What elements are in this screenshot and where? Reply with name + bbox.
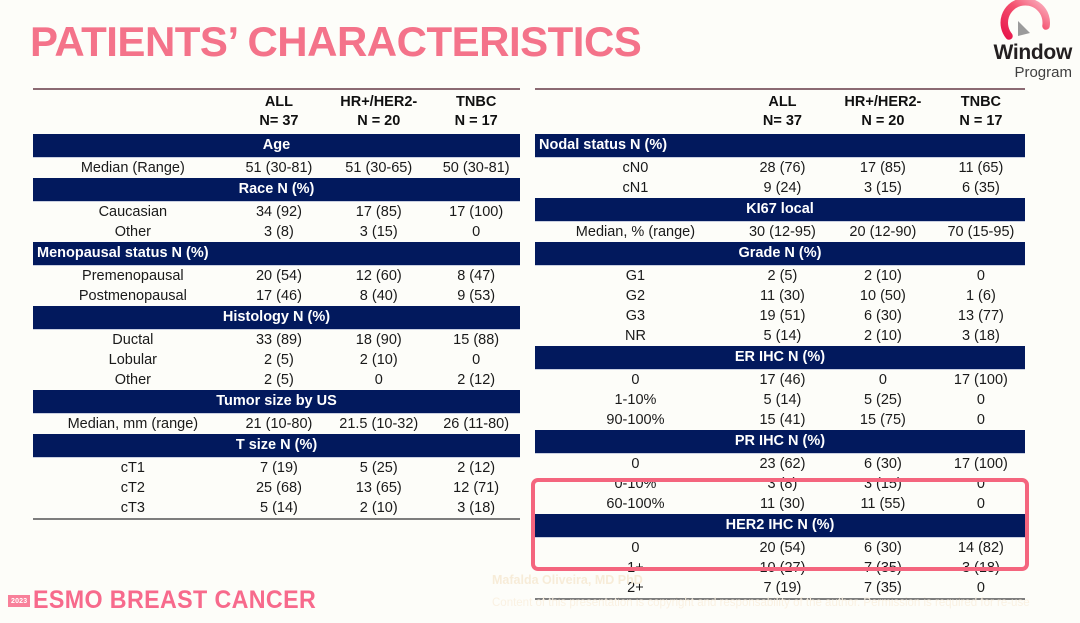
table-row: cT35 (14)2 (10)3 (18) bbox=[33, 498, 520, 519]
cell-tnbc: 17 (100) bbox=[432, 202, 520, 223]
header-hrher2: HR+/HER2- bbox=[829, 92, 937, 111]
header-blank bbox=[535, 92, 736, 111]
cell-tnbc: 0 bbox=[937, 410, 1025, 430]
esmo-logo: 2023 ESMO BREAST CANCER bbox=[8, 586, 338, 615]
section-band-label: ER IHC N (%) bbox=[535, 346, 1025, 370]
cell-tnbc: 9 (53) bbox=[432, 286, 520, 306]
cell-all: 2 (5) bbox=[233, 370, 326, 390]
header-all: ALL bbox=[233, 92, 326, 111]
table-row: NR5 (14)2 (10)3 (18) bbox=[535, 326, 1025, 346]
section-band: Histology N (%) bbox=[33, 306, 520, 330]
row-label: Caucasian bbox=[33, 202, 233, 223]
table-row: Median (Range)51 (30-81)51 (30-65)50 (30… bbox=[33, 158, 520, 179]
section-band: T size N (%) bbox=[33, 434, 520, 458]
section-band-label: Race N (%) bbox=[33, 178, 520, 202]
table-row: 017 (46)017 (100) bbox=[535, 370, 1025, 391]
cell-all: 5 (14) bbox=[736, 390, 829, 410]
cell-hrher2: 17 (85) bbox=[325, 202, 432, 223]
right-table: ALL HR+/HER2- TNBC N= 37 N = 20 N = 17 N… bbox=[535, 88, 1025, 602]
section-band-label: KI67 local bbox=[535, 198, 1025, 222]
cell-hrher2: 17 (85) bbox=[829, 158, 937, 179]
cell-hrher2: 18 (90) bbox=[325, 330, 432, 351]
cell-hrher2: 10 (50) bbox=[829, 286, 937, 306]
cell-all: 51 (30-81) bbox=[233, 158, 326, 179]
header-tnbc-n: N = 17 bbox=[432, 111, 520, 134]
row-label: Lobular bbox=[33, 350, 233, 370]
table-row: 60-100%11 (30)11 (55)0 bbox=[535, 494, 1025, 514]
cell-all: 10 (27) bbox=[736, 558, 829, 578]
cell-hrher2: 11 (55) bbox=[829, 494, 937, 514]
header-tnbc: TNBC bbox=[937, 92, 1025, 111]
row-label: G1 bbox=[535, 266, 736, 287]
cell-all: 33 (89) bbox=[233, 330, 326, 351]
row-label: 1-10% bbox=[535, 390, 736, 410]
cell-hrher2: 6 (30) bbox=[829, 306, 937, 326]
section-band-label: Menopausal status N (%) bbox=[33, 242, 520, 266]
cell-all: 3 (8) bbox=[736, 474, 829, 494]
table-row: G12 (5)2 (10)0 bbox=[535, 266, 1025, 287]
cell-all: 7 (19) bbox=[736, 578, 829, 599]
section-band: KI67 local bbox=[535, 198, 1025, 222]
cell-hrher2: 8 (40) bbox=[325, 286, 432, 306]
cell-tnbc: 3 (18) bbox=[432, 498, 520, 519]
row-label: Median (Range) bbox=[33, 158, 233, 179]
cell-hrher2: 3 (15) bbox=[829, 178, 937, 198]
row-label: Ductal bbox=[33, 330, 233, 351]
table-row: Median, % (range)30 (12-95)20 (12-90)70 … bbox=[535, 222, 1025, 243]
cell-all: 34 (92) bbox=[233, 202, 326, 223]
table-header-n-row: N= 37 N = 20 N = 17 bbox=[33, 111, 520, 134]
cell-all: 21 (10-80) bbox=[233, 414, 326, 435]
logo-subtitle: Program bbox=[960, 64, 1072, 81]
section-band: Race N (%) bbox=[33, 178, 520, 202]
table-header-row: ALL HR+/HER2- TNBC bbox=[33, 92, 520, 111]
cell-tnbc: 50 (30-81) bbox=[432, 158, 520, 179]
row-label: Premenopausal bbox=[33, 266, 233, 287]
row-label: 90-100% bbox=[535, 410, 736, 430]
cell-hrher2: 2 (10) bbox=[325, 498, 432, 519]
cell-all: 20 (54) bbox=[233, 266, 326, 287]
table-row: G319 (51)6 (30)13 (77) bbox=[535, 306, 1025, 326]
cell-tnbc: 3 (18) bbox=[937, 558, 1025, 578]
cell-hrher2: 2 (10) bbox=[325, 350, 432, 370]
header-tnbc: TNBC bbox=[432, 92, 520, 111]
cell-hrher2: 6 (30) bbox=[829, 454, 937, 475]
cell-tnbc: 2 (12) bbox=[432, 458, 520, 479]
cell-all: 15 (41) bbox=[736, 410, 829, 430]
table-row: Other2 (5)02 (12) bbox=[33, 370, 520, 390]
cell-tnbc: 26 (11-80) bbox=[432, 414, 520, 435]
header-blank bbox=[33, 92, 233, 111]
table-row: Caucasian34 (92)17 (85)17 (100) bbox=[33, 202, 520, 223]
cell-hrher2: 21.5 (10-32) bbox=[325, 414, 432, 435]
left-table: ALL HR+/HER2- TNBC N= 37 N = 20 N = 17 A… bbox=[33, 88, 520, 522]
row-label: 0-10% bbox=[535, 474, 736, 494]
cell-tnbc: 0 bbox=[937, 578, 1025, 599]
cell-all: 28 (76) bbox=[736, 158, 829, 179]
row-label: 0 bbox=[535, 454, 736, 475]
row-label: Median, % (range) bbox=[535, 222, 736, 243]
header-hrher2: HR+/HER2- bbox=[325, 92, 432, 111]
table-row: 90-100%15 (41)15 (75)0 bbox=[535, 410, 1025, 430]
cell-tnbc: 11 (65) bbox=[937, 158, 1025, 179]
cell-hrher2: 6 (30) bbox=[829, 538, 937, 559]
cell-tnbc: 0 bbox=[432, 350, 520, 370]
header-all: ALL bbox=[736, 92, 829, 111]
cell-tnbc: 14 (82) bbox=[937, 538, 1025, 559]
footer-copyright: Content of this presentation is copyrigh… bbox=[492, 597, 1030, 609]
cell-hrher2: 0 bbox=[829, 370, 937, 391]
cell-hrher2: 7 (35) bbox=[829, 578, 937, 599]
cell-tnbc: 0 bbox=[937, 266, 1025, 287]
section-band-label: T size N (%) bbox=[33, 434, 520, 458]
table-row: 1-10%5 (14)5 (25)0 bbox=[535, 390, 1025, 410]
cell-all: 3 (8) bbox=[233, 222, 326, 242]
cell-all: 17 (46) bbox=[233, 286, 326, 306]
table-row: Ductal33 (89)18 (90)15 (88) bbox=[33, 330, 520, 351]
row-label: 0 bbox=[535, 538, 736, 559]
row-label: cT2 bbox=[33, 478, 233, 498]
section-band-label: Nodal status N (%) bbox=[535, 134, 1025, 158]
row-label: cN1 bbox=[535, 178, 736, 198]
header-hrher2-n: N = 20 bbox=[325, 111, 432, 134]
header-all-n: N= 37 bbox=[736, 111, 829, 134]
section-band-label: Age bbox=[33, 134, 520, 158]
table-row: Premenopausal20 (54)12 (60)8 (47) bbox=[33, 266, 520, 287]
row-label: 0 bbox=[535, 370, 736, 391]
section-band: HER2 IHC N (%) bbox=[535, 514, 1025, 538]
section-band-label: Grade N (%) bbox=[535, 242, 1025, 266]
cell-tnbc: 2 (12) bbox=[432, 370, 520, 390]
cell-hrher2: 3 (15) bbox=[325, 222, 432, 242]
table-header-row: ALL HR+/HER2- TNBC bbox=[535, 92, 1025, 111]
header-all-n: N= 37 bbox=[233, 111, 326, 134]
section-band-label: Tumor size by US bbox=[33, 390, 520, 414]
cell-tnbc: 3 (18) bbox=[937, 326, 1025, 346]
cell-hrher2: 15 (75) bbox=[829, 410, 937, 430]
logo-title: Window bbox=[960, 42, 1072, 64]
cell-all: 5 (14) bbox=[233, 498, 326, 519]
cell-tnbc: 70 (15-95) bbox=[937, 222, 1025, 243]
window-program-logo: Window Program bbox=[960, 0, 1072, 81]
row-label: cT3 bbox=[33, 498, 233, 519]
table-row: Postmenopausal17 (46)8 (40)9 (53) bbox=[33, 286, 520, 306]
table-row: cT225 (68)13 (65)12 (71) bbox=[33, 478, 520, 498]
section-band: Nodal status N (%) bbox=[535, 134, 1025, 158]
table-row: cT17 (19)5 (25)2 (12) bbox=[33, 458, 520, 479]
section-band-label: Histology N (%) bbox=[33, 306, 520, 330]
cell-all: 23 (62) bbox=[736, 454, 829, 475]
section-band: Age bbox=[33, 134, 520, 158]
table-row: 023 (62)6 (30)17 (100) bbox=[535, 454, 1025, 475]
row-label: G3 bbox=[535, 306, 736, 326]
header-tnbc-n: N = 17 bbox=[937, 111, 1025, 134]
esmo-logo-text: ESMO BREAST CANCER bbox=[33, 586, 316, 615]
cell-hrher2: 2 (10) bbox=[829, 326, 937, 346]
table-row: 020 (54)6 (30)14 (82) bbox=[535, 538, 1025, 559]
row-label: G2 bbox=[535, 286, 736, 306]
cell-tnbc: 17 (100) bbox=[937, 370, 1025, 391]
cell-tnbc: 13 (77) bbox=[937, 306, 1025, 326]
cell-all: 2 (5) bbox=[233, 350, 326, 370]
row-label: 60-100% bbox=[535, 494, 736, 514]
right-table-body: ALL HR+/HER2- TNBC N= 37 N = 20 N = 17 N… bbox=[535, 89, 1025, 602]
row-label: Median, mm (range) bbox=[33, 414, 233, 435]
left-characteristics-table: ALL HR+/HER2- TNBC N= 37 N = 20 N = 17 A… bbox=[33, 88, 520, 522]
cell-tnbc: 1 (6) bbox=[937, 286, 1025, 306]
header-n-blank bbox=[535, 111, 736, 134]
cell-hrher2: 2 (10) bbox=[829, 266, 937, 287]
row-label: Postmenopausal bbox=[33, 286, 233, 306]
cell-tnbc: 15 (88) bbox=[432, 330, 520, 351]
header-n-blank bbox=[33, 111, 233, 134]
cell-hrher2: 5 (25) bbox=[325, 458, 432, 479]
section-band: PR IHC N (%) bbox=[535, 430, 1025, 454]
page-title: PATIENTS’ CHARACTERISTICS bbox=[30, 18, 641, 66]
left-table-body: ALL HR+/HER2- TNBC N= 37 N = 20 N = 17 A… bbox=[33, 89, 520, 522]
right-characteristics-table: ALL HR+/HER2- TNBC N= 37 N = 20 N = 17 N… bbox=[535, 88, 1025, 602]
cell-tnbc: 12 (71) bbox=[432, 478, 520, 498]
footer-author: Mafalda Oliveira, MD PhD bbox=[492, 573, 643, 587]
table-row: Other3 (8)3 (15)0 bbox=[33, 222, 520, 242]
section-band: ER IHC N (%) bbox=[535, 346, 1025, 370]
cell-tnbc: 0 bbox=[937, 494, 1025, 514]
cell-hrher2: 3 (15) bbox=[829, 474, 937, 494]
cell-tnbc: 17 (100) bbox=[937, 454, 1025, 475]
cell-tnbc: 0 bbox=[937, 474, 1025, 494]
section-band: Tumor size by US bbox=[33, 390, 520, 414]
table-row: 0-10%3 (8)3 (15)0 bbox=[535, 474, 1025, 494]
cell-hrher2: 12 (60) bbox=[325, 266, 432, 287]
cell-tnbc: 6 (35) bbox=[937, 178, 1025, 198]
cell-all: 25 (68) bbox=[233, 478, 326, 498]
row-label: NR bbox=[535, 326, 736, 346]
row-label: cN0 bbox=[535, 158, 736, 179]
section-band-label: PR IHC N (%) bbox=[535, 430, 1025, 454]
section-band: Menopausal status N (%) bbox=[33, 242, 520, 266]
cell-all: 17 (46) bbox=[736, 370, 829, 391]
logo-arc-icon bbox=[960, 0, 1072, 42]
table-header-n-row: N= 37 N = 20 N = 17 bbox=[535, 111, 1025, 134]
cell-hrher2: 20 (12-90) bbox=[829, 222, 937, 243]
cell-hrher2: 13 (65) bbox=[325, 478, 432, 498]
slide-root: PATIENTS’ CHARACTERISTICS Window Program bbox=[0, 0, 1080, 623]
header-hrher2-n: N = 20 bbox=[829, 111, 937, 134]
cell-all: 19 (51) bbox=[736, 306, 829, 326]
cell-tnbc: 8 (47) bbox=[432, 266, 520, 287]
cell-all: 20 (54) bbox=[736, 538, 829, 559]
cell-tnbc: 0 bbox=[937, 390, 1025, 410]
table-bottom-rule bbox=[33, 519, 520, 522]
section-band: Grade N (%) bbox=[535, 242, 1025, 266]
table-row: Median, mm (range)21 (10-80)21.5 (10-32)… bbox=[33, 414, 520, 435]
cell-all: 2 (5) bbox=[736, 266, 829, 287]
table-row: Lobular2 (5)2 (10)0 bbox=[33, 350, 520, 370]
cell-all: 11 (30) bbox=[736, 286, 829, 306]
table-row: cN19 (24)3 (15)6 (35) bbox=[535, 178, 1025, 198]
cell-tnbc: 0 bbox=[432, 222, 520, 242]
cell-all: 5 (14) bbox=[736, 326, 829, 346]
cell-all: 9 (24) bbox=[736, 178, 829, 198]
row-label: cT1 bbox=[33, 458, 233, 479]
cell-hrher2: 0 bbox=[325, 370, 432, 390]
cell-hrher2: 51 (30-65) bbox=[325, 158, 432, 179]
row-label: Other bbox=[33, 370, 233, 390]
table-row: cN028 (76)17 (85)11 (65) bbox=[535, 158, 1025, 179]
cell-hrher2: 5 (25) bbox=[829, 390, 937, 410]
section-band-label: HER2 IHC N (%) bbox=[535, 514, 1025, 538]
cell-all: 7 (19) bbox=[233, 458, 326, 479]
cell-all: 11 (30) bbox=[736, 494, 829, 514]
table-row: G211 (30)10 (50)1 (6) bbox=[535, 286, 1025, 306]
cell-all: 30 (12-95) bbox=[736, 222, 829, 243]
row-label: Other bbox=[33, 222, 233, 242]
esmo-year-badge: 2023 bbox=[8, 595, 30, 607]
cell-hrher2: 7 (35) bbox=[829, 558, 937, 578]
